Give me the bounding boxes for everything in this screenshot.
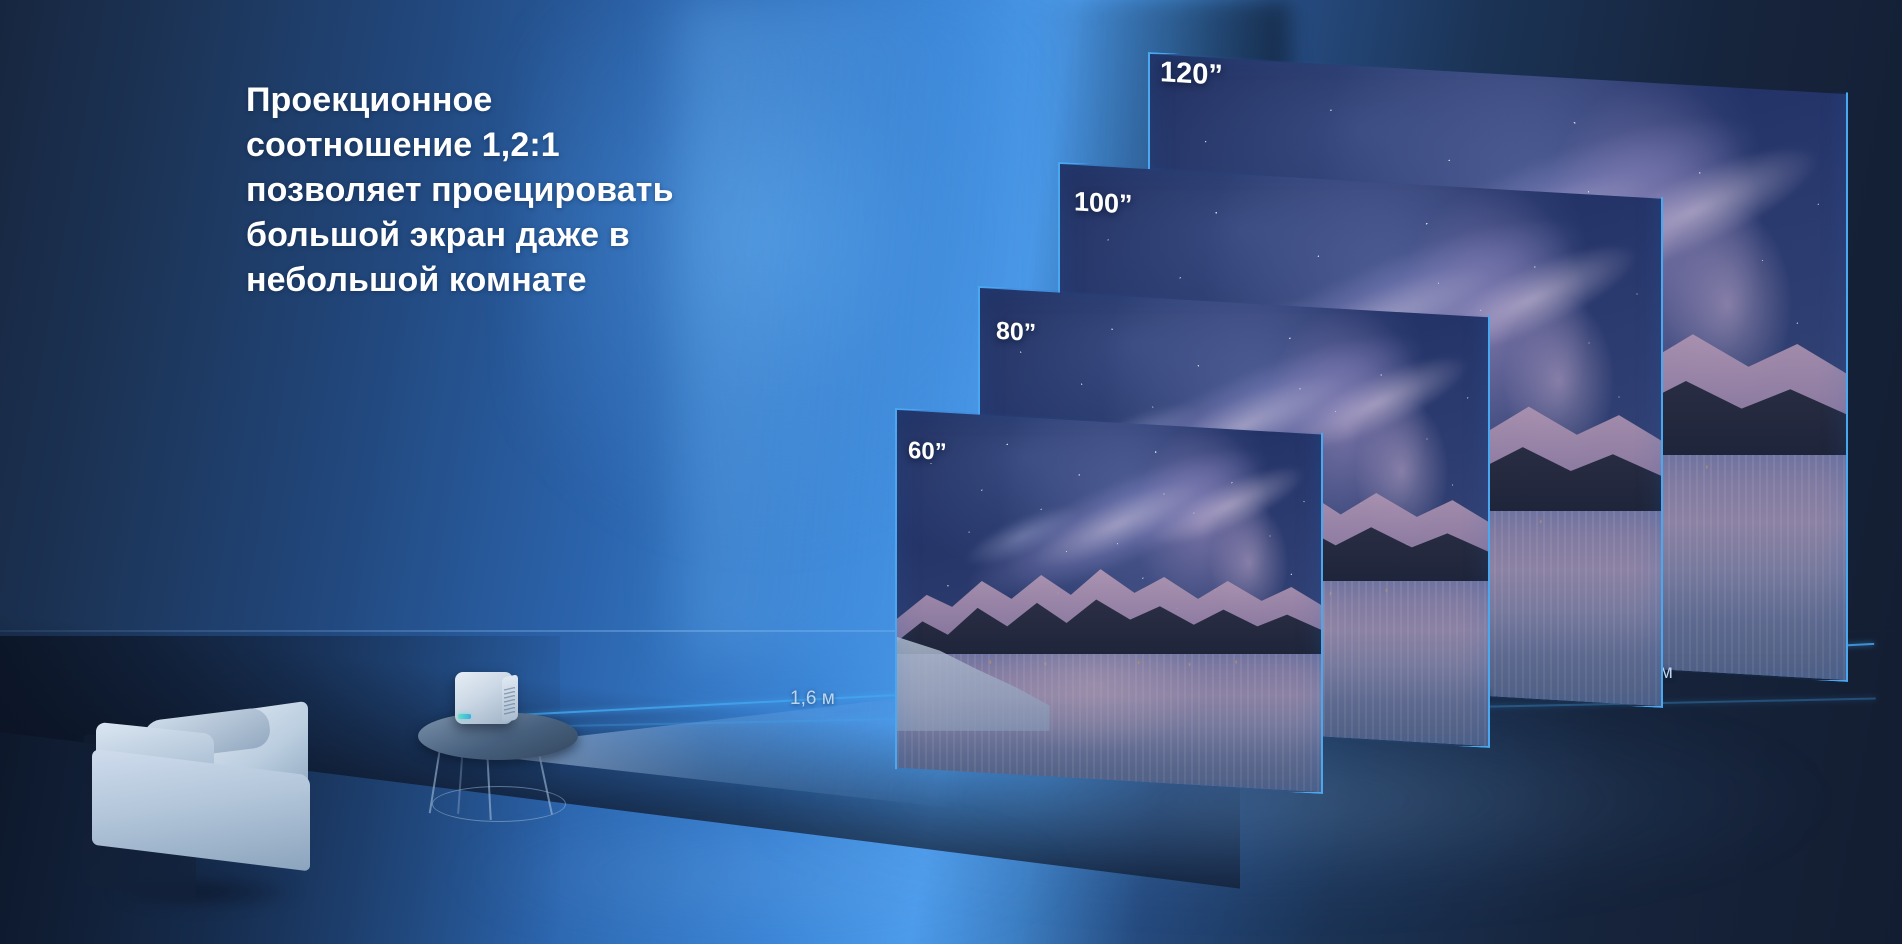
screen-100-size-label: 100” xyxy=(1074,186,1133,220)
headline-line-2: соотношение 1,2:1 xyxy=(246,123,886,168)
projection-ratio-infographic: Проекционное соотношение 1,2:1 позволяет… xyxy=(0,0,1902,944)
page-title: Проекционное соотношение 1,2:1 позволяет… xyxy=(246,78,886,302)
table-base-ring xyxy=(432,786,566,822)
projector-indicator-light xyxy=(458,714,471,719)
headline-line-4: большой экран даже в xyxy=(246,213,886,258)
screen-60 xyxy=(895,408,1323,794)
projector-vent xyxy=(504,687,515,716)
headline-line-3: позволяет проецировать xyxy=(246,168,886,213)
screen-80-size-label: 80” xyxy=(996,317,1036,348)
screen-60-frame xyxy=(895,408,1323,794)
screen-60-distance-label: 1,6 м xyxy=(790,688,835,710)
headline-line-1: Проекционное xyxy=(246,78,886,123)
headline-line-5: небольшой комнате xyxy=(246,258,886,303)
screen-60-size-label: 60” xyxy=(908,437,947,467)
screen-120-size-label: 120” xyxy=(1160,56,1223,93)
